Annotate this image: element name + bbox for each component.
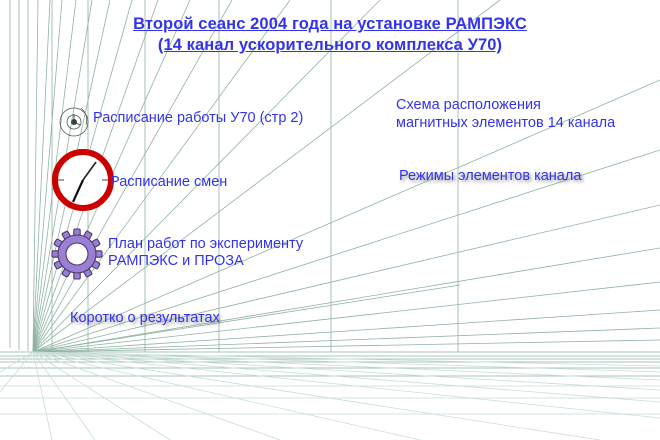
menu-item-results-summary-label: Коротко о результатах (70, 310, 220, 327)
menu-item-schedule-u70-label: Расписание работы У70 (стр 2) (93, 110, 303, 127)
menu-item-schedule-u70[interactable]: Расписание работы У70 (стр 2) (93, 110, 303, 127)
small-clock-icon[interactable] (55, 103, 97, 139)
link-channel-element-modes[interactable]: Режимы элементов канала (399, 168, 581, 186)
gear-icon[interactable] (50, 228, 104, 280)
perspective-grid-background (0, 0, 660, 440)
menu-item-shift-schedule-label: Расписание смен (110, 174, 227, 191)
menu-item-results-summary[interactable]: Коротко о результатах (70, 310, 220, 327)
presentation-slide: Второй сеанс 2004 года на установке РАМП… (0, 0, 660, 440)
title-line-2: (14 канал ускорительного комплекса У70) (158, 35, 502, 55)
slide-title: Второй сеанс 2004 года на установке РАМП… (0, 14, 660, 55)
link-magnet-layout-scheme[interactable]: Схема расположения магнитных элементов 1… (396, 97, 615, 132)
menu-item-work-plan[interactable]: План работ по эксперименту РАМПЭКС и ПРО… (108, 236, 303, 270)
menu-item-shift-schedule[interactable]: Расписание смен (110, 174, 227, 191)
red-clock-icon[interactable] (47, 144, 119, 216)
menu-item-work-plan-label: План работ по эксперименту РАМПЭКС и ПРО… (108, 236, 303, 270)
title-line-1: Второй сеанс 2004 года на установке РАМП… (133, 14, 527, 34)
